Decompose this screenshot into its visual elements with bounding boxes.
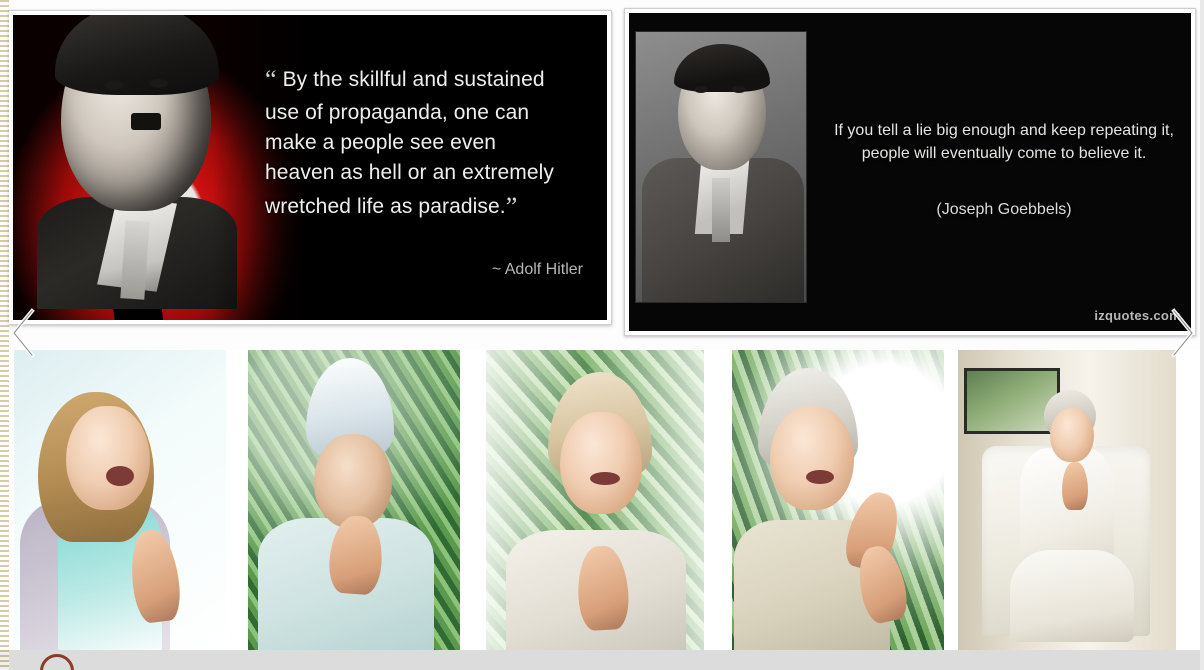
page-edge-gutter-right (1200, 0, 1204, 670)
next-slide-button[interactable] (1166, 305, 1200, 361)
quote-line-2: people will eventually come to believe i… (815, 142, 1191, 165)
hero-image-row: “ By the skillful and sustained use of p… (0, 0, 1204, 345)
quote-line-1: By the skillful and sustained (283, 68, 545, 91)
hitler-quote-canvas: “ By the skillful and sustained use of p… (13, 15, 607, 320)
filmstrip-bottom-fill (0, 650, 1204, 670)
quote-line-3: make a people see even (265, 128, 605, 158)
goebbels-portrait (635, 31, 807, 303)
hero-image-left[interactable]: “ By the skillful and sustained use of p… (8, 10, 612, 325)
hitler-quote-text: “ By the skillful and sustained use of p… (265, 61, 605, 225)
thumbnail-filmstrip (0, 350, 1204, 660)
prev-slide-button[interactable] (6, 305, 40, 361)
hero-image-right[interactable]: If you tell a lie big enough and keep re… (624, 8, 1196, 336)
goebbels-quote-text: If you tell a lie big enough and keep re… (815, 119, 1191, 165)
thumbnail-item[interactable] (248, 350, 460, 650)
open-quote-mark: “ (265, 65, 277, 94)
chevron-right-icon (1166, 305, 1200, 361)
goebbels-quote-canvas: If you tell a lie big enough and keep re… (629, 13, 1191, 331)
chevron-left-icon (6, 305, 40, 361)
quote-line-5: wretched life as paradise. (265, 195, 506, 218)
close-quote-mark: ” (506, 192, 518, 221)
thumbnail-item[interactable] (14, 350, 226, 650)
thumbnail-item[interactable] (732, 350, 944, 650)
quote-line-1: If you tell a lie big enough and keep re… (815, 119, 1191, 142)
image-gallery-viewer: “ By the skillful and sustained use of p… (0, 0, 1204, 670)
goebbels-attribution: (Joseph Goebbels) (815, 201, 1191, 219)
thumbnail-item[interactable] (958, 350, 1176, 650)
quote-line-4: heaven as hell or an extremely (265, 158, 605, 188)
quote-line-2: use of propaganda, one can (265, 98, 605, 128)
page-edge-gutter (0, 0, 9, 670)
thumbnail-item[interactable] (486, 350, 704, 650)
hitler-attribution: ~ Adolf Hitler (492, 261, 583, 279)
